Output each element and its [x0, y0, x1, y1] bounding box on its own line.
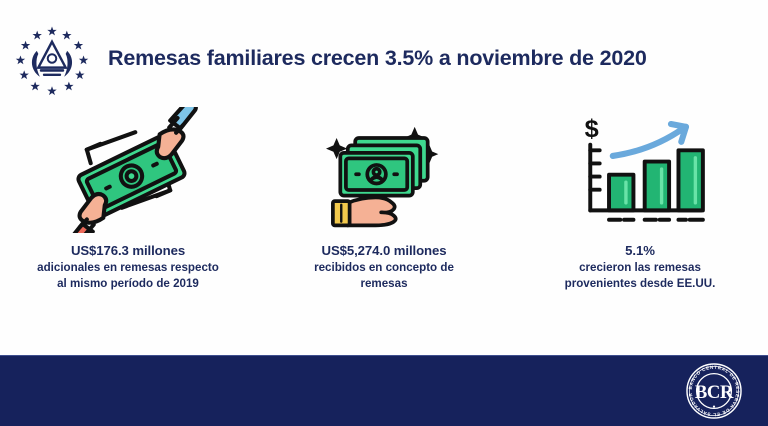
bcr-initials: BCR — [695, 382, 734, 403]
stat-value-3: 5.1% — [545, 242, 735, 259]
stat-caption-2: US$5,274.0 millones recibidos en concept… — [289, 242, 479, 291]
stat-text-3: crecieron las remesas provenientes desde… — [545, 260, 735, 291]
page-title-prefix: Remesas familiares crecen — [108, 46, 385, 70]
hand-receiving-cash-icon — [305, 104, 463, 236]
page-title-highlight: 3.5% — [385, 46, 433, 70]
el-salvador-coat-of-arms-icon — [14, 22, 90, 98]
page-title-suffix: a noviembre de 2020 — [433, 46, 647, 70]
stat-text-2: recibidos en concepto de remesas — [289, 260, 479, 291]
infographic-canvas: Remesas familiares crecen 3.5% a noviemb… — [0, 0, 768, 425]
stat-column-1: US$176.3 millones adicionales en remesas… — [0, 104, 256, 344]
bcr-seal-logo: BANCO CENTRAL DE RESERVA DE EL SALVADOR … — [684, 361, 744, 421]
stat-value-2: US$5,274.0 millones — [289, 242, 479, 259]
growth-bar-chart-icon: $ — [560, 104, 720, 236]
stat-text-1: adicionales en remesas respecto al mismo… — [33, 260, 223, 291]
header: Remesas familiares crecen 3.5% a noviemb… — [0, 0, 768, 112]
money-exchange-hands-icon — [46, 104, 211, 236]
footer-banner: BANCO CENTRAL DE RESERVA DE EL SALVADOR … — [0, 355, 768, 426]
stats-row: US$176.3 millones adicionales en remesas… — [0, 104, 768, 344]
stat-column-2: US$5,274.0 millones recibidos en concept… — [256, 104, 512, 344]
page-title: Remesas familiares crecen 3.5% a noviemb… — [108, 46, 647, 71]
dollar-symbol: $ — [585, 115, 599, 143]
stat-value-1: US$176.3 millones — [33, 242, 223, 259]
stat-caption-1: US$176.3 millones adicionales en remesas… — [33, 242, 223, 291]
stat-column-3: $ — [512, 104, 768, 344]
stat-caption-3: 5.1% crecieron las remesas provenientes … — [545, 242, 735, 291]
